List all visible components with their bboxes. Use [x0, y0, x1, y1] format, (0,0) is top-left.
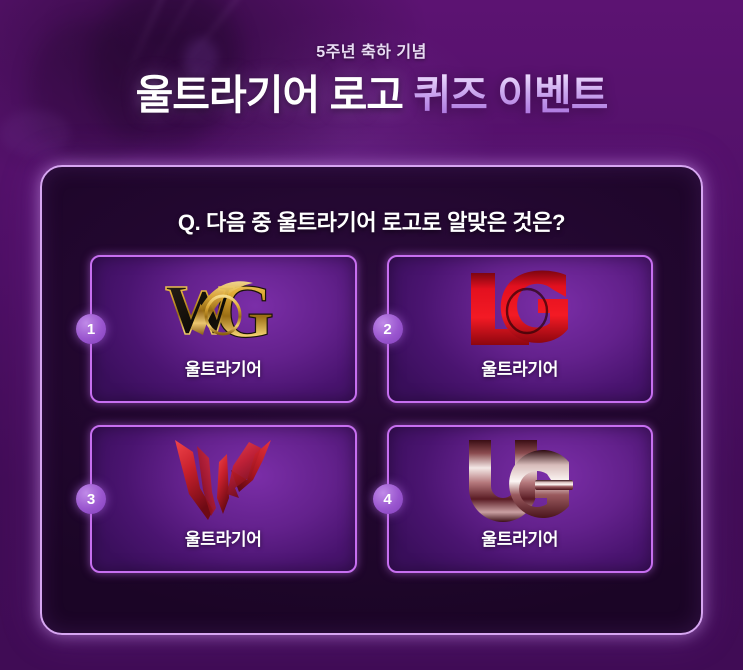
option-number-badge-1: 1 [76, 314, 106, 344]
option-label-3: 울트라기어 [185, 525, 262, 550]
quiz-option-3[interactable]: 3 [90, 425, 357, 573]
option-label-2: 울트라기어 [481, 355, 558, 380]
option-number-badge-2: 2 [373, 314, 403, 344]
quiz-option-4[interactable]: 4 [387, 425, 654, 573]
quiz-option-2[interactable]: 2 [387, 255, 654, 403]
option-box-2[interactable]: 울트라기어 [387, 255, 654, 403]
lg-red-logo-icon [465, 261, 575, 357]
option-label-4: 울트라기어 [481, 525, 558, 550]
ug-chrome-logo-icon [461, 431, 579, 527]
quiz-options-grid: 1 [42, 255, 701, 573]
option-number-badge-4: 4 [373, 484, 403, 514]
page-title: 울트라기어 로고 퀴즈 이벤트 [0, 74, 743, 117]
wg-gold-logo-icon: G W [161, 261, 285, 357]
option-box-1[interactable]: G W 울트라기어 [90, 255, 357, 403]
page-header: 5주년 축하 기념 울트라기어 로고 퀴즈 이벤트 [0, 0, 743, 117]
quiz-question: Q. 다음 중 울트라기어 로고로 알맞은 것은? [42, 205, 701, 237]
quiz-option-1[interactable]: 1 [90, 255, 357, 403]
event-subtitle: 5주년 축하 기념 [0, 38, 743, 62]
page-title-accent: 퀴즈 이벤트 [413, 72, 607, 118]
promo-page: 5주년 축하 기념 울트라기어 로고 퀴즈 이벤트 Q. 다음 중 울트라기어 … [0, 0, 743, 670]
option-box-4[interactable]: 울트라기어 [387, 425, 654, 573]
option-label-1: 울트라기어 [185, 355, 262, 380]
option-box-3[interactable]: 울트라기어 [90, 425, 357, 573]
quiz-card: Q. 다음 중 울트라기어 로고로 알맞은 것은? 1 [40, 165, 703, 635]
ultragear-red-emblem-icon [167, 431, 279, 527]
page-title-primary: 울트라기어 로고 [136, 72, 403, 118]
option-number-badge-3: 3 [76, 484, 106, 514]
